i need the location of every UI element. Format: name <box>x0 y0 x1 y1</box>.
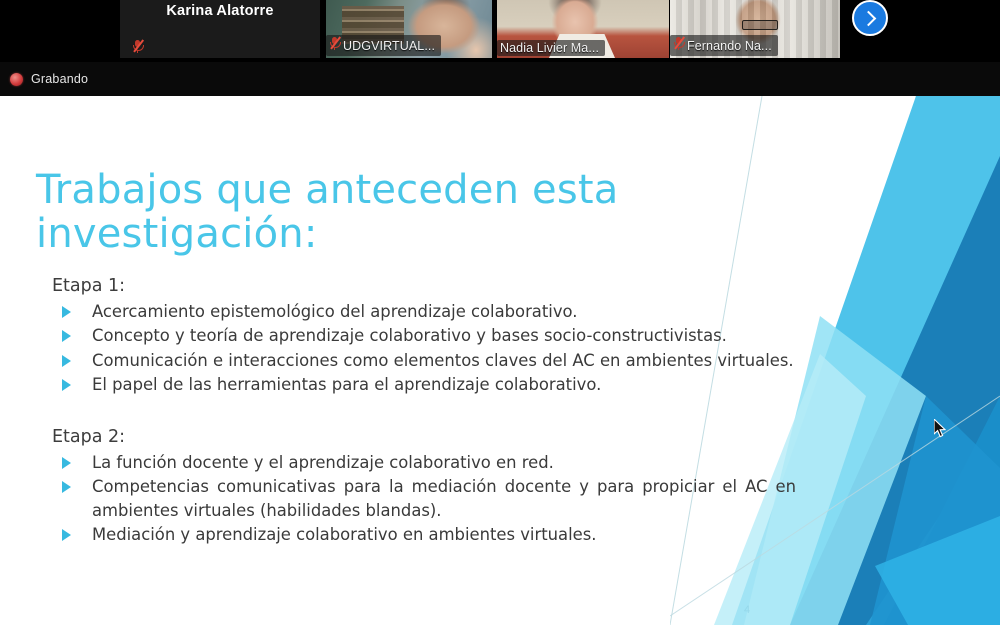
triangle-bullet-icon <box>62 355 71 367</box>
next-participants-button[interactable] <box>852 0 888 36</box>
list-item: El papel de las herramientas para el apr… <box>50 373 796 396</box>
list-item: Comunicación e interacciones como elemen… <box>50 349 796 372</box>
slide-number: 4 <box>744 604 750 616</box>
participant-filmstrip: Karina Alatorre UDGVIRTUAL... Nadia Livi… <box>0 0 1000 62</box>
presentation-slide: Trabajos que anteceden esta investigació… <box>0 96 1000 625</box>
bullet-list-2: La función docente y el aprendizaje cola… <box>50 451 796 546</box>
nameplate-nadia: Nadia Livier Ma... <box>497 40 605 56</box>
screen-share-window: Karina Alatorre UDGVIRTUAL... Nadia Livi… <box>0 0 1000 625</box>
nameplate-udgvirtual: UDGVIRTUAL... <box>326 35 441 56</box>
record-dot-icon <box>10 73 23 86</box>
slide-title: Trabajos que anteceden esta investigació… <box>36 168 796 256</box>
slide-body: Etapa 1: Acercamiento epistemológico del… <box>50 276 796 547</box>
triangle-bullet-icon <box>62 457 71 469</box>
stage-label-1: Etapa 1: <box>52 276 796 296</box>
mic-muted-icon <box>329 36 340 55</box>
list-item: Concepto y teoría de aprendizaje colabor… <box>50 324 796 347</box>
triangle-bullet-icon <box>62 306 71 318</box>
list-item: Acercamiento epistemológico del aprendiz… <box>50 300 796 323</box>
participant-name-karina: Karina Alatorre <box>120 3 320 19</box>
triangle-bullet-icon <box>62 379 71 391</box>
triangle-bullet-icon <box>62 481 71 493</box>
triangle-bullet-icon <box>62 330 71 342</box>
participant-tile-nadia[interactable]: Nadia Livier Ma... <box>497 0 669 58</box>
list-item: Mediación y aprendizaje colaborativo en … <box>50 523 796 546</box>
bullet-list-1: Acercamiento epistemológico del aprendiz… <box>50 300 796 396</box>
chevron-right-icon <box>861 10 877 26</box>
section-spacer <box>50 397 796 427</box>
stage-block-2: Etapa 2: La función docente y el aprendi… <box>50 427 796 546</box>
participant-tile-karina[interactable]: Karina Alatorre <box>120 0 320 58</box>
mic-muted-icon <box>673 36 684 55</box>
stage-label-2: Etapa 2: <box>52 427 796 447</box>
list-item: La función docente y el aprendizaje cola… <box>50 451 796 474</box>
participant-tile-udgvirtual[interactable]: UDGVIRTUAL... <box>326 0 492 58</box>
list-item: Competencias comunicativas para la media… <box>50 475 796 522</box>
triangle-bullet-icon <box>62 529 71 541</box>
recording-status-label: Grabando <box>31 72 88 86</box>
stage-block-1: Etapa 1: Acercamiento epistemológico del… <box>50 276 796 396</box>
nameplate-fernando: Fernando Na... <box>670 35 778 56</box>
recording-status-bar: Grabando <box>0 62 1000 96</box>
mic-muted-icon <box>132 39 143 53</box>
participant-tile-fernando[interactable]: Fernando Na... <box>670 0 840 58</box>
